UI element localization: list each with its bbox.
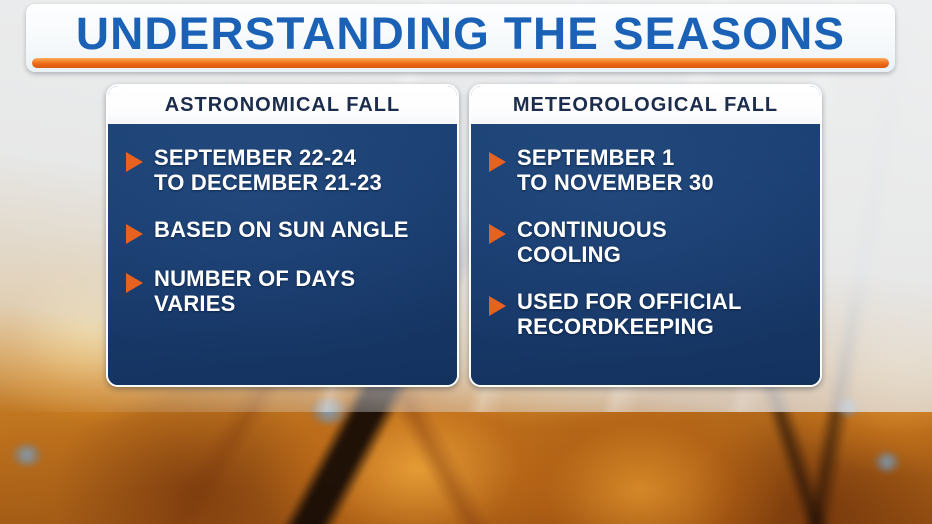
list-item-line: USED FOR OFFICIAL	[517, 289, 808, 314]
triangle-bullet-icon	[126, 224, 143, 244]
list-item-text: SEPTEMBER 1 TO NOVEMBER 30	[517, 145, 808, 195]
list-item-text: USED FOR OFFICIAL RECORDKEEPING	[517, 289, 808, 339]
list-item: CONTINUOUS COOLING	[489, 217, 808, 267]
panel-body-meteorological: SEPTEMBER 1 TO NOVEMBER 30 CONTINUOUS CO…	[471, 124, 820, 385]
list-item-line: VARIES	[154, 291, 445, 316]
page-title: UNDERSTANDING THE SEASONS	[26, 7, 895, 61]
list-item-text: NUMBER OF DAYS VARIES	[154, 266, 445, 316]
list-item-line: SEPTEMBER 22-24	[154, 145, 445, 170]
list-item-line: BASED ON SUN ANGLE	[154, 217, 445, 242]
list-item: SEPTEMBER 1 TO NOVEMBER 30	[489, 145, 808, 195]
weather-graphic-seasons: UNDERSTANDING THE SEASONS ASTRONOMICAL F…	[0, 0, 932, 524]
list-item-line: TO DECEMBER 21-23	[154, 170, 445, 195]
list-item: USED FOR OFFICIAL RECORDKEEPING	[489, 289, 808, 339]
comparison-panels: ASTRONOMICAL FALL SEPTEMBER 22-24 TO DEC…	[106, 84, 822, 387]
list-item: SEPTEMBER 22-24 TO DECEMBER 21-23	[126, 145, 445, 195]
sky-fleck-icon	[874, 452, 900, 472]
list-item-line: TO NOVEMBER 30	[517, 170, 808, 195]
panel-header-meteorological: METEOROLOGICAL FALL	[471, 86, 820, 124]
triangle-bullet-icon	[126, 152, 143, 172]
list-item: BASED ON SUN ANGLE	[126, 217, 445, 244]
title-bar: UNDERSTANDING THE SEASONS	[26, 4, 895, 72]
panel-body-astronomical: SEPTEMBER 22-24 TO DECEMBER 21-23 BASED …	[108, 124, 457, 385]
panel-header-astronomical: ASTRONOMICAL FALL	[108, 86, 457, 124]
list-item-line: NUMBER OF DAYS	[154, 266, 445, 291]
title-accent-stripe	[32, 58, 889, 68]
list-item-text: SEPTEMBER 22-24 TO DECEMBER 21-23	[154, 145, 445, 195]
list-item: NUMBER OF DAYS VARIES	[126, 266, 445, 316]
triangle-bullet-icon	[126, 273, 143, 293]
list-item-line: RECORDKEEPING	[517, 314, 808, 339]
panel-astronomical-fall: ASTRONOMICAL FALL SEPTEMBER 22-24 TO DEC…	[106, 84, 459, 387]
list-item-line: CONTINUOUS	[517, 217, 808, 242]
list-item-line: COOLING	[517, 242, 808, 267]
triangle-bullet-icon	[489, 296, 506, 316]
list-item-text: BASED ON SUN ANGLE	[154, 217, 445, 242]
sky-fleck-icon	[12, 444, 42, 466]
triangle-bullet-icon	[489, 224, 506, 244]
panel-meteorological-fall: METEOROLOGICAL FALL SEPTEMBER 1 TO NOVEM…	[469, 84, 822, 387]
triangle-bullet-icon	[489, 152, 506, 172]
list-item-text: CONTINUOUS COOLING	[517, 217, 808, 267]
list-item-line: SEPTEMBER 1	[517, 145, 808, 170]
